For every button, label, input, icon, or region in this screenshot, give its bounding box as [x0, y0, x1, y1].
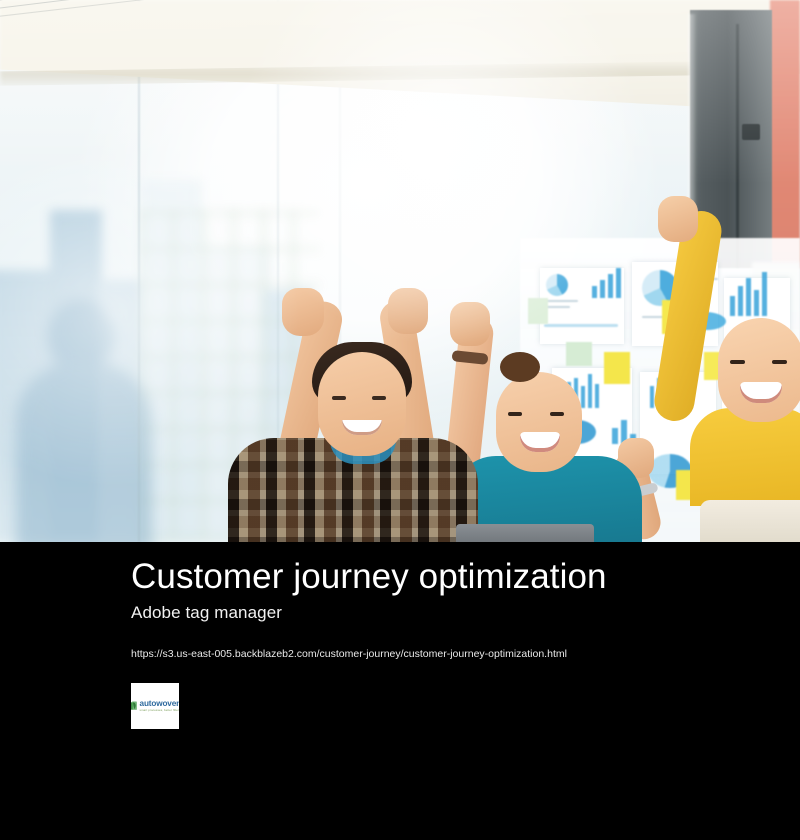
silhouette-body: [16, 362, 152, 542]
pillar-latch: [742, 124, 760, 140]
autowoven-logo-card[interactable]: autowoven smart processes, better fiber: [131, 683, 179, 729]
page-title: Customer journey optimization: [131, 557, 607, 596]
bar-graphic: [612, 428, 618, 444]
person-eye: [508, 412, 522, 416]
bar-graphic: [592, 286, 597, 298]
person-head: [496, 372, 582, 472]
person-raised-fist: [282, 288, 324, 336]
person-torso: [690, 408, 800, 506]
logo-tagline: smart processes, better fiber: [140, 709, 179, 712]
pillar-seam: [736, 24, 739, 268]
person-eye: [332, 396, 346, 400]
page-subtitle: Adobe tag manager: [131, 602, 282, 624]
person-eye: [372, 396, 386, 400]
person-hair-bun: [500, 352, 540, 382]
info-card: Customer journey optimization Adobe tag …: [0, 542, 800, 840]
laptop-lid: [456, 524, 594, 542]
bar-graphic: [730, 296, 735, 316]
page-root: Customer journey optimization Adobe tag …: [0, 0, 800, 840]
logo-lockup: autowoven smart processes, better fiber: [131, 700, 179, 712]
person-raised-fist: [450, 302, 490, 346]
sticky-note-yellow: [604, 352, 630, 384]
reflected-person-silhouette: [10, 300, 170, 542]
hero-photograph: [0, 0, 800, 542]
logo-wordmark: autowoven: [140, 700, 179, 708]
salmon-wall: [770, 0, 800, 268]
person-head: [718, 318, 800, 422]
pie-chart-graphic: [546, 274, 568, 296]
bar-graphic: [588, 374, 592, 408]
bar-graphic: [650, 386, 654, 408]
bar-graphic: [595, 384, 599, 408]
page-url[interactable]: https://s3.us-east-005.backblazeb2.com/c…: [131, 648, 567, 662]
leaf-icon: [131, 701, 138, 711]
bar-graphic: [600, 280, 605, 298]
person-eye: [550, 412, 564, 416]
bar-graphic: [616, 268, 621, 298]
bar-graphic: [581, 386, 585, 408]
person-trousers: [700, 500, 800, 542]
bar-graphic: [608, 274, 613, 298]
bar-graphic: [754, 290, 759, 316]
person-eye: [772, 360, 787, 364]
person-raised-fist: [388, 288, 428, 334]
text-line-graphic: [544, 300, 578, 302]
person-head: [318, 352, 406, 456]
person-raised-fist: [658, 196, 698, 242]
line-chart-graphic: [544, 324, 618, 327]
sticky-note-green: [528, 298, 548, 324]
bar-graphic: [762, 272, 767, 316]
person-eye: [730, 360, 745, 364]
logo-text-block: autowoven smart processes, better fiber: [140, 700, 179, 712]
sticky-note-green: [566, 342, 592, 366]
bar-graphic: [738, 286, 743, 316]
bar-graphic: [746, 278, 751, 316]
